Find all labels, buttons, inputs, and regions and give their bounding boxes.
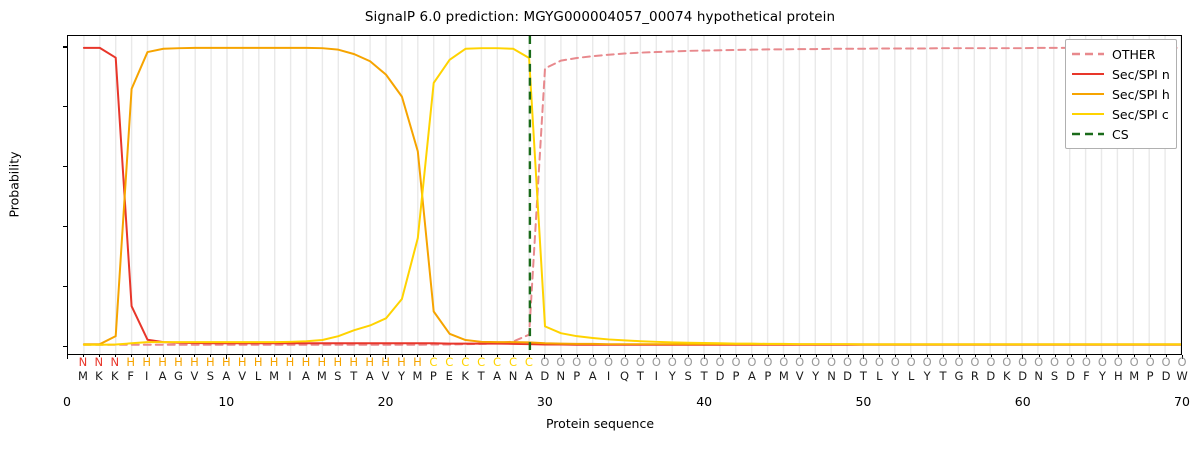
signalp-prediction-figure: SignalP 6.0 prediction: MGYG000004057_00… xyxy=(0,0,1200,450)
legend-item[interactable]: Sec/SPI h xyxy=(1071,84,1170,104)
legend-label: CS xyxy=(1112,127,1129,142)
x-tick-label: 50 xyxy=(833,394,893,409)
series-line-sec-spi-h xyxy=(84,48,1181,344)
legend-item[interactable]: CS xyxy=(1071,124,1170,144)
legend-label: Sec/SPI n xyxy=(1112,67,1170,82)
x-tick-label: 0 xyxy=(37,394,97,409)
plot-canvas xyxy=(68,36,1181,354)
legend-label: OTHER xyxy=(1112,47,1155,62)
region-annotation-row: NNNHHHHHHHHHHHHHHHHHHHCCCCCCCOOOOOOOOOOO… xyxy=(67,355,1182,370)
legend-item[interactable]: OTHER xyxy=(1071,44,1170,64)
y-axis-label: Probability xyxy=(7,55,22,315)
plot-area xyxy=(67,35,1182,355)
residue-label: W xyxy=(1173,369,1191,384)
legend-swatch-icon xyxy=(1071,88,1105,100)
series-line-sec-spi-n xyxy=(84,48,1181,345)
x-tick-label: 10 xyxy=(196,394,256,409)
legend: OTHERSec/SPI nSec/SPI hSec/SPI cCS xyxy=(1065,39,1177,149)
series-line-sec-spi-c xyxy=(84,48,1181,345)
x-tick-label: 30 xyxy=(515,394,575,409)
x-tick-label: 20 xyxy=(356,394,416,409)
legend-label: Sec/SPI c xyxy=(1112,107,1169,122)
legend-swatch-icon xyxy=(1071,68,1105,80)
region-label: O xyxy=(1173,355,1191,370)
x-axis-label: Protein sequence xyxy=(0,416,1200,431)
x-tick-label: 60 xyxy=(993,394,1053,409)
legend-item[interactable]: Sec/SPI n xyxy=(1071,64,1170,84)
series-line-other xyxy=(84,48,1181,345)
legend-item[interactable]: Sec/SPI c xyxy=(1071,104,1170,124)
page-title: SignalP 6.0 prediction: MGYG000004057_00… xyxy=(0,9,1200,25)
legend-swatch-icon xyxy=(1071,108,1105,120)
legend-swatch-icon xyxy=(1071,128,1105,140)
x-tick-label: 70 xyxy=(1152,394,1200,409)
residue-sequence-row: MKKFIAGVSAVLMIAMSTAVYMPEKTANADNPAIQTIYST… xyxy=(67,369,1182,384)
x-tick-label: 40 xyxy=(674,394,734,409)
legend-label: Sec/SPI h xyxy=(1112,87,1170,102)
legend-swatch-icon xyxy=(1071,48,1105,60)
